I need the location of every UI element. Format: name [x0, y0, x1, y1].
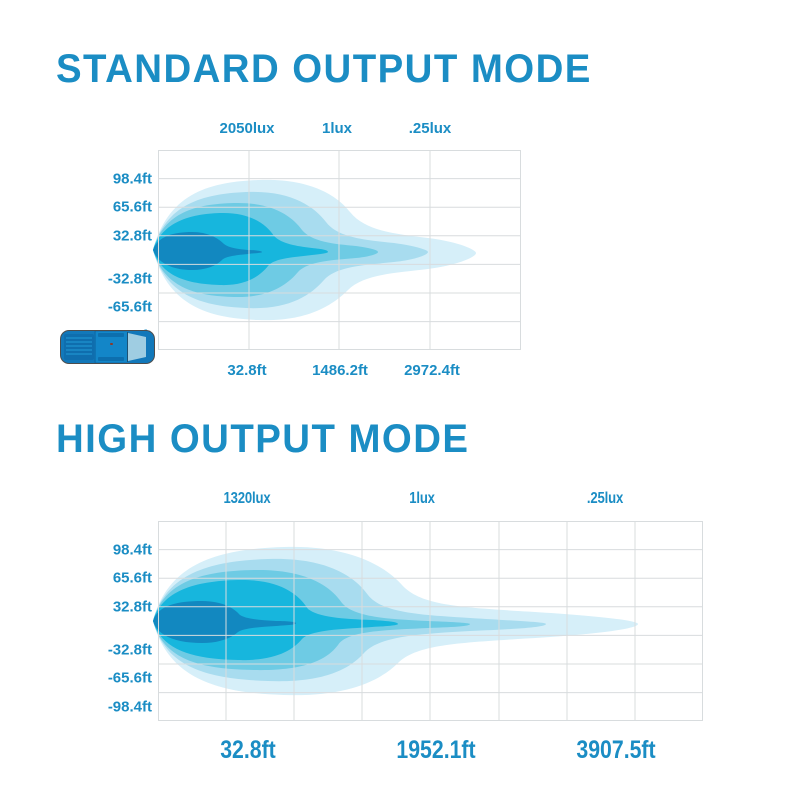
chart-high-output: 1320lux 1lux .25lux 98.4ft 65.6ft 32.8ft…	[0, 470, 800, 770]
lux-label-high-2: .25lux	[587, 490, 623, 508]
distance-label-standard-0: 32.8ft	[227, 362, 266, 379]
lux-label-standard-1: 1lux	[322, 120, 352, 137]
y-label-high-2: 32.8ft	[113, 598, 152, 615]
page-title-high-output-mode: HIGH OUTPUT MODE	[56, 419, 469, 459]
y-label-high-5: -98.4ft	[108, 698, 152, 715]
plot-area-high	[158, 521, 703, 721]
y-label-standard-4: -65.6ft	[108, 299, 152, 316]
y-label-standard-0: 98.4ft	[113, 170, 152, 187]
vehicle-icon-truck-standard	[58, 327, 158, 367]
y-label-standard-1: 65.6ft	[113, 199, 152, 216]
lux-label-standard-2: .25lux	[409, 120, 452, 137]
y-label-high-4: -65.6ft	[108, 670, 152, 687]
grid-standard	[158, 150, 521, 350]
distance-label-standard-1: 1486.2ft	[312, 362, 368, 379]
y-label-standard-2: 32.8ft	[113, 227, 152, 244]
lux-label-standard-0: 2050lux	[219, 120, 274, 137]
y-label-standard-3: -32.8ft	[108, 270, 152, 287]
y-label-high-0: 98.4ft	[113, 541, 152, 558]
page-title-standard-output-mode: STANDARD OUTPUT MODE	[56, 49, 592, 89]
lux-label-high-0: 1320lux	[224, 490, 271, 508]
y-axis-labels-high: 98.4ft 65.6ft 32.8ft -32.8ft -65.6ft -98…	[40, 521, 152, 721]
y-axis-labels-standard: 98.4ft 65.6ft 32.8ft -32.8ft -65.6ft -98…	[40, 150, 152, 350]
chart-standard-output: 2050lux 1lux .25lux 98.4ft 65.6ft 32.8ft…	[0, 100, 800, 400]
plot-area-standard	[158, 150, 521, 350]
distance-label-high-2: 3907.5ft	[576, 736, 655, 765]
y-label-high-3: -32.8ft	[108, 641, 152, 658]
distance-label-standard-2: 2972.4ft	[404, 362, 460, 379]
distance-label-high-1: 1952.1ft	[396, 736, 475, 765]
grid-high	[158, 521, 703, 721]
lux-label-high-1: 1lux	[409, 490, 435, 508]
distance-label-high-0: 32.8ft	[220, 736, 276, 765]
y-label-high-1: 65.6ft	[113, 570, 152, 587]
beam-pattern-page: STANDARD OUTPUT MODE 2050lux 1lux .25lux…	[0, 0, 800, 800]
